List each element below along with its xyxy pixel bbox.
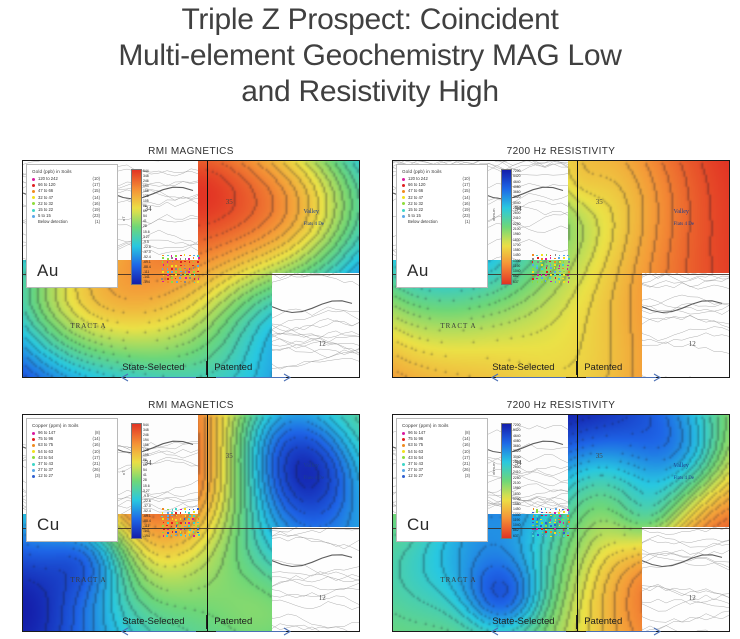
legend-row: 12 to 27(3) — [32, 473, 113, 479]
colorbar-tick-label: 348 — [143, 174, 149, 178]
colorbar-tick-label: -9.5 — [143, 494, 149, 498]
legend-count: (3) — [450, 473, 470, 479]
slide: Triple Z Prospect: Coincident Multi-elem… — [0, 0, 740, 639]
legend-swatch — [32, 196, 35, 199]
legend-swatch — [402, 178, 405, 181]
colorbar-tick-label: -69.1 — [143, 260, 151, 264]
colorbar-tick-label: 156 — [143, 189, 149, 193]
colorbar-tick-label: 1830 — [513, 238, 521, 242]
legend-swatch — [402, 463, 405, 466]
colorbar-tick-label: 2410 — [513, 470, 521, 474]
legend-swatch — [402, 444, 405, 447]
annotation-tract: TRACT A — [70, 322, 106, 330]
colorbar-tick-label: 194 — [143, 184, 149, 188]
colorbar-tick-label: 1960 — [513, 232, 521, 236]
annotation-section-12: 12 — [319, 594, 326, 602]
annotation-valley-sub: Flats 4 De — [674, 222, 695, 227]
legend-swatch — [32, 450, 35, 453]
colorbar-tick-label: 1450 — [513, 253, 521, 257]
colorbar-tick-label: 4080 — [513, 185, 521, 189]
legend-swatch — [32, 221, 35, 224]
colorbar-tick-label: 7200 — [513, 423, 521, 427]
colorbar-tick-label: -111 — [143, 270, 149, 274]
colorbar-unit: nT — [121, 216, 126, 221]
colorbar-tick-label: 1190 — [513, 518, 520, 522]
annotation-section-12: 12 — [689, 340, 696, 348]
colorbar-gradient — [501, 169, 512, 285]
panel-title-mag-cu: RMI MAGNETICS — [22, 400, 360, 411]
claim-boundary-line — [577, 161, 578, 377]
colorbar-tick-label: 3660 — [513, 444, 521, 448]
colorbar-tick-label: 5420 — [513, 428, 521, 432]
element-label-Cu: Cu — [407, 515, 430, 535]
colorbar-tick-label: 3.27 — [143, 489, 150, 493]
legend-swatch — [32, 444, 35, 447]
colorbar-tick-label: 194 — [143, 438, 149, 442]
colorbar-tick-label: 2250 — [513, 476, 521, 480]
element-label-Cu: Cu — [37, 515, 60, 535]
map-res-cu[interactable]: TRACT A341235ValleyFlats 4 DeCopper (ppm… — [392, 414, 730, 632]
arrow-left-icon — [120, 627, 198, 637]
boundary-label-right: Patented — [584, 362, 622, 373]
colorbar-unit: ohm-m — [491, 463, 496, 475]
legend-swatch — [402, 190, 405, 193]
colorbar-tick-label: 3320 — [513, 449, 521, 453]
element-label-Au: Au — [407, 261, 429, 281]
annotation-section-12: 12 — [689, 594, 696, 602]
topo-block-lower-right — [272, 527, 359, 631]
colorbar-tick-label: 54 — [143, 214, 147, 218]
arrow-right-icon — [584, 627, 662, 637]
colorbar-tick-label: 544 — [143, 423, 149, 427]
claim-boundary-line — [207, 161, 208, 377]
panel-res-cu: 7200 Hz RESISTIVITYTRACT A341235ValleyFl… — [392, 400, 730, 632]
legend-count: (1) — [450, 219, 470, 225]
colorbar-tick-label: 1190 — [513, 264, 520, 268]
panel-title-mag-au: RMI MAGNETICS — [22, 146, 360, 157]
colorbar-tick-label: 5420 — [513, 174, 521, 178]
legend-title: Copper (ppm) in Soils — [32, 423, 113, 428]
panel-title-res-au: 7200 Hz RESISTIVITY — [392, 146, 730, 157]
element-label-Au: Au — [37, 261, 59, 281]
legend-row: Below detection(1) — [32, 219, 113, 225]
colorbar-tick-label: 1040 — [513, 523, 521, 527]
colorbar-gradient — [501, 423, 512, 539]
map-mag-au[interactable]: TRACT A341235ValleyFlats 4 DeGold (ppb) … — [22, 160, 360, 378]
map-mag-cu[interactable]: TRACT A341235ValleyFlats 4 DeCopper (ppm… — [22, 414, 360, 632]
panel-mag-au: RMI MAGNETICSTRACT A341235ValleyFlats 4 … — [22, 146, 360, 378]
colorbar-tick-label: 1700 — [513, 243, 521, 247]
colorbar-tick-label: 2800 — [513, 206, 521, 210]
colorbar-ticks: 544348246194156128105866954412815.63.27-… — [143, 169, 157, 285]
colorbar-tick-label: 2600 — [513, 211, 521, 215]
annotation-tract: TRACT A — [70, 576, 106, 584]
colorbar-tick-label: -111 — [143, 524, 149, 528]
colorbar-tick-label: 246 — [143, 179, 149, 183]
legend-swatch — [32, 463, 35, 466]
colorbar-tick-label: 69 — [143, 463, 147, 467]
colorbar-tick-label: 4640 — [513, 434, 521, 438]
colorbar-unit: ohm-m — [491, 209, 496, 221]
colorbar-tick-label: 2600 — [513, 465, 521, 469]
colorbar-ticks: 7200542046404080366033203040280026002410… — [513, 169, 527, 285]
annotation-valley: Valley — [304, 209, 319, 215]
legend-row: Below detection(1) — [402, 219, 483, 225]
arrow-right-icon — [214, 373, 292, 383]
colorbar-tick-label: 41 — [143, 219, 147, 223]
annotation-valley-sub: Flats 4 De — [304, 476, 325, 481]
colorbar-tick-label: 156 — [143, 443, 149, 447]
annotation-tract: TRACT A — [440, 576, 476, 584]
boundary-label-left: State-Selected — [122, 616, 184, 627]
legend-swatch — [32, 438, 35, 441]
panel-mag-cu: RMI MAGNETICSTRACT A341235ValleyFlats 4 … — [22, 400, 360, 632]
colorbar-tick-label: -69.1 — [143, 514, 151, 518]
topo-block-lower-right — [642, 527, 729, 631]
legend-swatch — [402, 469, 405, 472]
boundary-label-right: Patented — [584, 616, 622, 627]
colorbar-tick-label: 4640 — [513, 180, 521, 184]
colorbar-tick-label: 1330 — [513, 259, 521, 263]
colorbar-tick-label: 128 — [143, 448, 149, 452]
map-res-au[interactable]: TRACT A341235ValleyFlats 4 DeGold (ppb) … — [392, 160, 730, 378]
panel-title-res-cu: 7200 Hz RESISTIVITY — [392, 400, 730, 411]
claim-boundary-line — [577, 415, 578, 631]
colorbar-tick-label: 2250 — [513, 222, 521, 226]
colorbar-tick-label: -37.0 — [143, 250, 151, 254]
colorbar-tick-label: -88.4 — [143, 519, 151, 523]
colorbar-tick-label: 544 — [143, 169, 149, 173]
colorbar-tick-label: 1450 — [513, 507, 521, 511]
legend-swatch — [32, 469, 35, 472]
legend-swatch — [402, 438, 405, 441]
boundary-label-left: State-Selected — [122, 362, 184, 373]
colorbar-tick-label: 3.27 — [143, 235, 150, 239]
claim-boundary-line — [207, 415, 208, 631]
annotation-section-35: 35 — [226, 198, 233, 206]
legend-swatch — [402, 215, 405, 218]
colorbar-tick-label: -9.5 — [143, 240, 149, 244]
arrow-right-icon — [214, 627, 292, 637]
annotation-section-35: 35 — [596, 198, 603, 206]
boundary-label-divider — [576, 615, 577, 629]
annotation-valley: Valley — [674, 209, 689, 215]
colorbar-res-au: ohm-m72005420464040803660332030402800260… — [492, 169, 522, 285]
colorbar-tick-label: 637 — [513, 280, 519, 284]
colorbar-tick-label: 2410 — [513, 216, 521, 220]
colorbar-mag-au: nT544348246194156128105866954412815.63.2… — [122, 169, 152, 285]
legend-title: Copper (ppm) in Soils — [402, 423, 483, 428]
title-line-3: and Resistivity High — [0, 74, 740, 110]
topo-block-lower-right — [272, 273, 359, 377]
colorbar-tick-label: 1700 — [513, 497, 521, 501]
legend-row: 12 to 27(3) — [402, 473, 483, 479]
colorbar-ticks: 544348246194156128105866954412815.63.27-… — [143, 423, 157, 539]
colorbar-tick-label: 348 — [143, 428, 149, 432]
colorbar-tick-label: -37.0 — [143, 504, 151, 508]
arrow-left-icon — [490, 627, 568, 637]
boundary-label-divider — [576, 361, 577, 375]
colorbar-tick-label: 28 — [143, 224, 147, 228]
legend-swatch — [402, 209, 405, 212]
colorbar-tick-label: -52.4 — [143, 509, 151, 513]
colorbar-tick-label: -141 — [143, 529, 150, 533]
title-line-1: Triple Z Prospect: Coincident — [0, 2, 740, 38]
annotation-tract: TRACT A — [440, 322, 476, 330]
legend-swatch — [402, 202, 405, 205]
legend-swatch — [402, 432, 405, 435]
legend-swatch — [402, 184, 405, 187]
colorbar-tick-label: 2800 — [513, 460, 521, 464]
legend-range: Below detection — [38, 219, 80, 225]
colorbar-tick-label: -52.4 — [143, 255, 151, 259]
colorbar-tick-label: 15.6 — [143, 484, 150, 488]
colorbar-unit: nT — [121, 470, 126, 475]
legend-swatch — [32, 184, 35, 187]
topo-block-lower-right — [642, 273, 729, 377]
colorbar-tick-label: -88.4 — [143, 265, 151, 269]
colorbar-tick-label: 69 — [143, 209, 147, 213]
legend-swatch — [32, 432, 35, 435]
colorbar-tick-label: 2100 — [513, 227, 521, 231]
colorbar-tick-label: 3040 — [513, 201, 521, 205]
legend-swatch — [402, 475, 405, 478]
colorbar-tick-label: 1040 — [513, 269, 521, 273]
colorbar-tick-label: 862 — [513, 274, 519, 278]
colorbar-res-cu: ohm-m72005420464040803660332030402800260… — [492, 423, 522, 539]
colorbar-tick-label: 7200 — [513, 169, 521, 173]
boundary-label-left: State-Selected — [492, 362, 554, 373]
boundary-label-right: Patented — [214, 616, 252, 627]
colorbar-tick-label: 3320 — [513, 195, 521, 199]
arrow-left-icon — [490, 373, 568, 383]
colorbar-ticks: 7200542046404080366033203040280026002410… — [513, 423, 527, 539]
legend-box-mag-cu: Copper (ppm) in Soils96 to 147(8)75 to 9… — [26, 418, 118, 542]
colorbar-tick-label: 86 — [143, 204, 147, 208]
legend-swatch — [402, 221, 405, 224]
legend-swatch — [32, 475, 35, 478]
colorbar-tick-label: -194 — [143, 534, 150, 538]
legend-box-mag-au: Gold (ppb) in Soils120 to 242(10)66 to 1… — [26, 164, 118, 288]
legend-box-res-au: Gold (ppb) in Soils120 to 242(10)66 to 1… — [396, 164, 488, 288]
colorbar-tick-label: 246 — [143, 433, 149, 437]
legend-title: Gold (ppb) in Soils — [402, 169, 483, 174]
legend-swatch — [32, 456, 35, 459]
colorbar-tick-label: 3040 — [513, 455, 521, 459]
legend-swatch — [32, 190, 35, 193]
colorbar-tick-label: 1960 — [513, 486, 521, 490]
colorbar-tick-label: 105 — [143, 453, 149, 457]
colorbar-tick-label: 3660 — [513, 190, 521, 194]
colorbar-gradient — [131, 423, 142, 539]
annotation-valley-sub: Flats 4 De — [674, 476, 695, 481]
colorbar-tick-label: 1580 — [513, 502, 521, 506]
colorbar-tick-label: 2100 — [513, 481, 521, 485]
colorbar-tick-label: 28 — [143, 478, 147, 482]
colorbar-tick-label: 128 — [143, 194, 149, 198]
legend-range: 12 to 27 — [408, 473, 450, 479]
colorbar-tick-label: 15.6 — [143, 230, 150, 234]
legend-title: Gold (ppb) in Soils — [32, 169, 113, 174]
colorbar-mag-cu: nT544348246194156128105866954412815.63.2… — [122, 423, 152, 539]
boundary-label-divider — [206, 615, 207, 629]
colorbar-tick-label: -194 — [143, 280, 150, 284]
legend-swatch — [32, 202, 35, 205]
legend-swatch — [32, 215, 35, 218]
legend-swatch — [402, 456, 405, 459]
annotation-valley-sub: Flats 4 De — [304, 222, 325, 227]
colorbar-tick-label: 54 — [143, 468, 147, 472]
legend-swatch — [402, 450, 405, 453]
legend-range: Below detection — [408, 219, 450, 225]
colorbar-tick-label: 86 — [143, 458, 147, 462]
annotation-section-12: 12 — [319, 340, 326, 348]
legend-box-res-cu: Copper (ppm) in Soils96 to 147(8)75 to 9… — [396, 418, 488, 542]
annotation-section-35: 35 — [226, 452, 233, 460]
legend-range: 12 to 27 — [38, 473, 80, 479]
colorbar-tick-label: 1830 — [513, 492, 521, 496]
annotation-section-35: 35 — [596, 452, 603, 460]
arrow-left-icon — [120, 373, 198, 383]
arrow-right-icon — [584, 373, 662, 383]
legend-swatch — [402, 196, 405, 199]
legend-swatch — [32, 178, 35, 181]
colorbar-tick-label: 4080 — [513, 439, 521, 443]
colorbar-tick-label: 41 — [143, 473, 147, 477]
colorbar-tick-label: 105 — [143, 199, 149, 203]
colorbar-tick-label: 862 — [513, 528, 519, 532]
panel-res-au: 7200 Hz RESISTIVITYTRACT A341235ValleyFl… — [392, 146, 730, 378]
legend-swatch — [32, 209, 35, 212]
colorbar-tick-label: 637 — [513, 534, 519, 538]
annotation-valley: Valley — [674, 463, 689, 469]
legend-count: (1) — [80, 219, 100, 225]
colorbar-tick-label: -22.6 — [143, 499, 151, 503]
colorbar-tick-label: 1580 — [513, 248, 521, 252]
colorbar-tick-label: 1330 — [513, 513, 521, 517]
boundary-label-left: State-Selected — [492, 616, 554, 627]
page-title: Triple Z Prospect: Coincident Multi-elem… — [0, 2, 740, 110]
title-line-2: Multi-element Geochemistry MAG Low — [0, 38, 740, 74]
boundary-label-right: Patented — [214, 362, 252, 373]
colorbar-tick-label: -141 — [143, 275, 150, 279]
legend-count: (3) — [80, 473, 100, 479]
colorbar-gradient — [131, 169, 142, 285]
colorbar-tick-label: -22.6 — [143, 245, 151, 249]
boundary-label-divider — [206, 361, 207, 375]
annotation-valley: Valley — [304, 463, 319, 469]
